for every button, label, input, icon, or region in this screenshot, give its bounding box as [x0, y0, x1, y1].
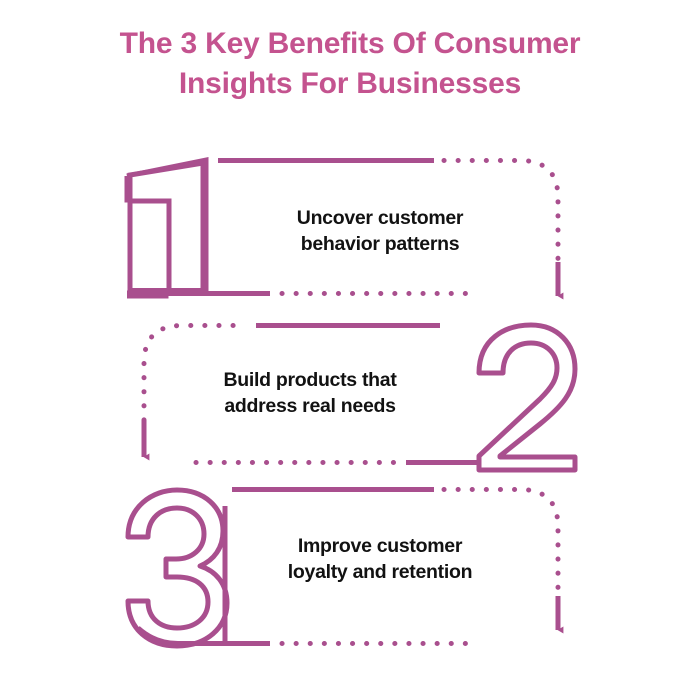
step-1-text: Uncover customer behavior patterns: [235, 206, 525, 257]
step-2-numeral-outline: [479, 325, 575, 470]
step-1-text-line-1: Uncover customer: [235, 206, 525, 232]
step-2-text-line-2: address real needs: [165, 394, 455, 420]
step-3-numeral-outline: [128, 490, 227, 646]
step-3-text-line-1: Improve customer: [235, 534, 525, 560]
step-3-text: Improve customer loyalty and retention: [235, 534, 525, 585]
step-2-text-line-1: Build products that: [165, 368, 455, 394]
step-1-text-line-2: behavior patterns: [235, 232, 525, 258]
step-3-text-line-2: loyalty and retention: [235, 560, 525, 586]
step-2-text: Build products that address real needs: [165, 368, 455, 419]
steps-flow-diagram: [0, 0, 700, 700]
infographic-canvas: The 3 Key Benefits Of Consumer Insights …: [0, 0, 700, 700]
